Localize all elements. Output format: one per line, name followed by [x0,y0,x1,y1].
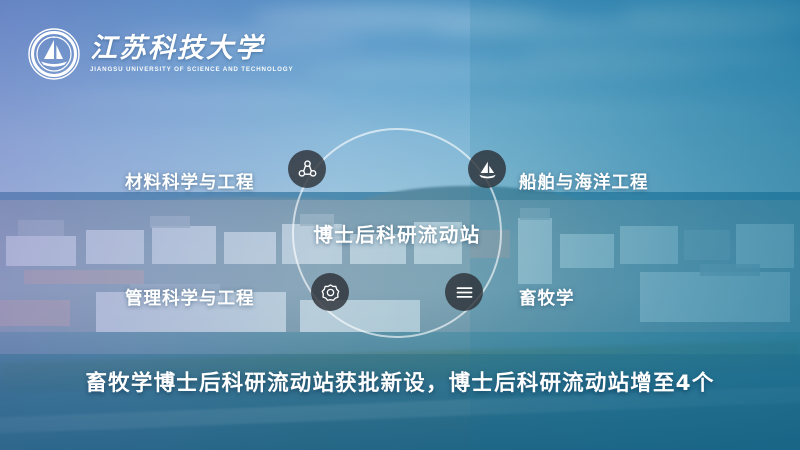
diagram-center-title: 博士后科研流动站 [313,219,480,248]
node-animal-husbandry[interactable] [445,273,483,311]
university-sailboat-emblem-icon [28,28,80,80]
logo-wordmark: 江苏科技大学 JIANGSU UNIVERSITY OF SCIENCE AND… [90,35,293,72]
university-logo: 江苏科技大学 JIANGSU UNIVERSITY OF SCIENCE AND… [28,28,293,80]
label-management-science: 管理科学与工程 [125,285,255,310]
molecule-icon [297,159,318,180]
postdoc-station-diagram: 博士后科研流动站 [292,128,502,338]
logo-name-en: JIANGSU UNIVERSITY OF SCIENCE AND TECHNO… [90,66,293,73]
label-animal-husbandry: 畜牧学 [519,285,575,310]
sailboat-icon [477,159,498,180]
list-bars-icon [454,282,475,303]
node-management-science[interactable] [311,273,349,311]
presentation-slide: 江苏科技大学 JIANGSU UNIVERSITY OF SCIENCE AND… [0,0,800,450]
node-materials-science[interactable] [288,150,326,188]
slide-caption: 畜牧学博士后科研流动站获批新设，博士后科研流动站增至4个 [0,366,800,397]
gear-icon [320,282,341,303]
node-naval-ocean-engineering[interactable] [468,150,506,188]
label-materials-science: 材料科学与工程 [125,169,255,194]
label-naval-ocean-engineering: 船舶与海洋工程 [519,169,649,194]
logo-name-cn: 江苏科技大学 [90,35,293,63]
